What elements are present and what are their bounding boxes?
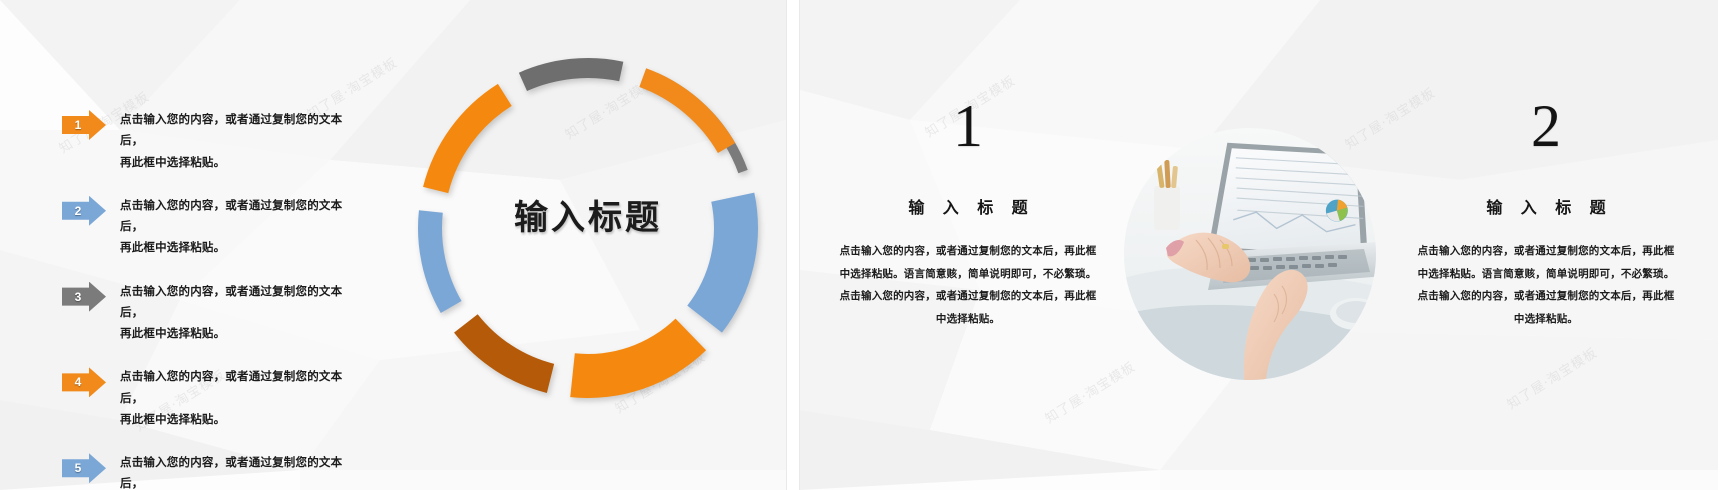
slide-deck: 知了屋·淘宝模板 知了屋·淘宝模板 知了屋·淘宝模板 知了屋·淘宝模板 知了屋·…	[0, 0, 1720, 490]
watermark-text: 知了屋·淘宝模板	[1503, 342, 1601, 413]
body-line: 点击输入您的内容，或者通过复制您的文本后，再此框	[1418, 240, 1675, 263]
bullet-line: 点击输入您的内容，或者通过复制您的文本后，	[120, 196, 362, 239]
bullet-line: 再此框中选择粘贴。	[120, 238, 362, 259]
column-number: 1	[953, 96, 983, 156]
slide-divider	[786, 0, 800, 490]
bullet-text: 点击输入您的内容，或者通过复制您的文本后， 再此框中选择粘贴。	[120, 110, 362, 174]
column-body: 点击输入您的内容，或者通过复制您的文本后，再此框 中选择粘贴。语言简意赅，简单说…	[840, 240, 1097, 330]
donut-segment-seg-bottom-right[interactable]	[454, 314, 554, 393]
bullet-marker-4: 4	[62, 367, 106, 397]
content-column-1: 1 输 入 标 题 点击输入您的内容，或者通过复制您的文本后，再此框 中选择粘贴…	[822, 96, 1114, 330]
body-line: 中选择粘贴。语言简意赅，简单说明即可，不必繁琐。	[1418, 263, 1675, 286]
bullet-text: 点击输入您的内容，或者通过复制您的文本后， 再此框中选择粘贴。	[120, 282, 362, 346]
bullet-number: 2	[67, 196, 89, 226]
column-heading: 输 入 标 题	[901, 194, 1034, 218]
body-line: 点击输入您的内容，或者通过复制您的文本后，再此框	[840, 240, 1097, 263]
bullet-number: 5	[67, 453, 89, 483]
bullet-text: 点击输入您的内容，或者通过复制您的文本后， 再此框中选择粘贴。	[120, 367, 362, 431]
list-item[interactable]: 5 点击输入您的内容，或者通过复制您的文本后， 再此框中选择粘贴。	[62, 453, 362, 490]
bullet-line: 点击输入您的内容，或者通过复制您的文本后，	[120, 110, 362, 153]
body-line: 点击输入您的内容，或者通过复制您的文本后，再此框	[1418, 285, 1675, 308]
list-item[interactable]: 1 点击输入您的内容，或者通过复制您的文本后， 再此框中选择粘贴。	[62, 110, 362, 174]
bullet-line: 点击输入您的内容，或者通过复制您的文本后，	[120, 453, 362, 490]
donut-center-title: 输入标题	[408, 190, 768, 239]
bullet-marker-3: 3	[62, 282, 106, 312]
bullet-list: 1 点击输入您的内容，或者通过复制您的文本后， 再此框中选择粘贴。 2 点击输入…	[62, 110, 362, 490]
bullet-line: 再此框中选择粘贴。	[120, 324, 362, 345]
bullet-line: 点击输入您的内容，或者通过复制您的文本后，	[120, 367, 362, 410]
bullet-line: 点击输入您的内容，或者通过复制您的文本后，	[120, 282, 362, 325]
list-item[interactable]: 3 点击输入您的内容，或者通过复制您的文本后， 再此框中选择粘贴。	[62, 282, 362, 346]
bullet-number: 1	[67, 110, 89, 140]
column-number: 2	[1531, 96, 1561, 156]
donut-segment-seg-top-left[interactable]	[639, 68, 735, 153]
body-line: 中选择粘贴。语言简意赅，简单说明即可，不必繁琐。	[840, 263, 1097, 286]
donut-segment-seg-left[interactable]	[519, 58, 623, 91]
bullet-marker-2: 2	[62, 196, 106, 226]
bullet-number: 4	[67, 367, 89, 397]
bullet-number: 3	[67, 282, 89, 312]
bullet-marker-1: 1	[62, 110, 106, 140]
laptop-typing-photo	[1124, 128, 1376, 380]
donut-segment-seg-bottom-left[interactable]	[423, 84, 512, 193]
content-column-2: 2 输 入 标 题 点击输入您的内容，或者通过复制您的文本后，再此框 中选择粘贴…	[1400, 96, 1692, 330]
body-line: 中选择粘贴。	[1418, 308, 1675, 331]
watermark-text: 知了屋·淘宝模板	[1041, 356, 1139, 427]
column-heading: 输 入 标 题	[1479, 194, 1612, 218]
column-body: 点击输入您的内容，或者通过复制您的文本后，再此框 中选择粘贴。语言简意赅，简单说…	[1418, 240, 1675, 330]
bullet-line: 再此框中选择粘贴。	[120, 153, 362, 174]
slide-left: 知了屋·淘宝模板 知了屋·淘宝模板 知了屋·淘宝模板 知了屋·淘宝模板 知了屋·…	[0, 0, 786, 490]
body-line: 点击输入您的内容，或者通过复制您的文本后，再此框	[840, 285, 1097, 308]
bullet-marker-5: 5	[62, 453, 106, 483]
list-item[interactable]: 2 点击输入您的内容，或者通过复制您的文本后， 再此框中选择粘贴。	[62, 196, 362, 260]
slide-right: 知了屋·淘宝模板 知了屋·淘宝模板 知了屋·淘宝模板 知了屋·淘宝模板 1 输 …	[800, 0, 1718, 490]
donut-segment-seg-right[interactable]	[570, 319, 706, 398]
bullet-text: 点击输入您的内容，或者通过复制您的文本后， 再此框中选择粘贴。	[120, 196, 362, 260]
bullet-line: 再此框中选择粘贴。	[120, 410, 362, 431]
list-item[interactable]: 4 点击输入您的内容，或者通过复制您的文本后， 再此框中选择粘贴。	[62, 367, 362, 431]
bullet-text: 点击输入您的内容，或者通过复制您的文本后， 再此框中选择粘贴。	[120, 453, 362, 490]
body-line: 中选择粘贴。	[840, 308, 1097, 331]
